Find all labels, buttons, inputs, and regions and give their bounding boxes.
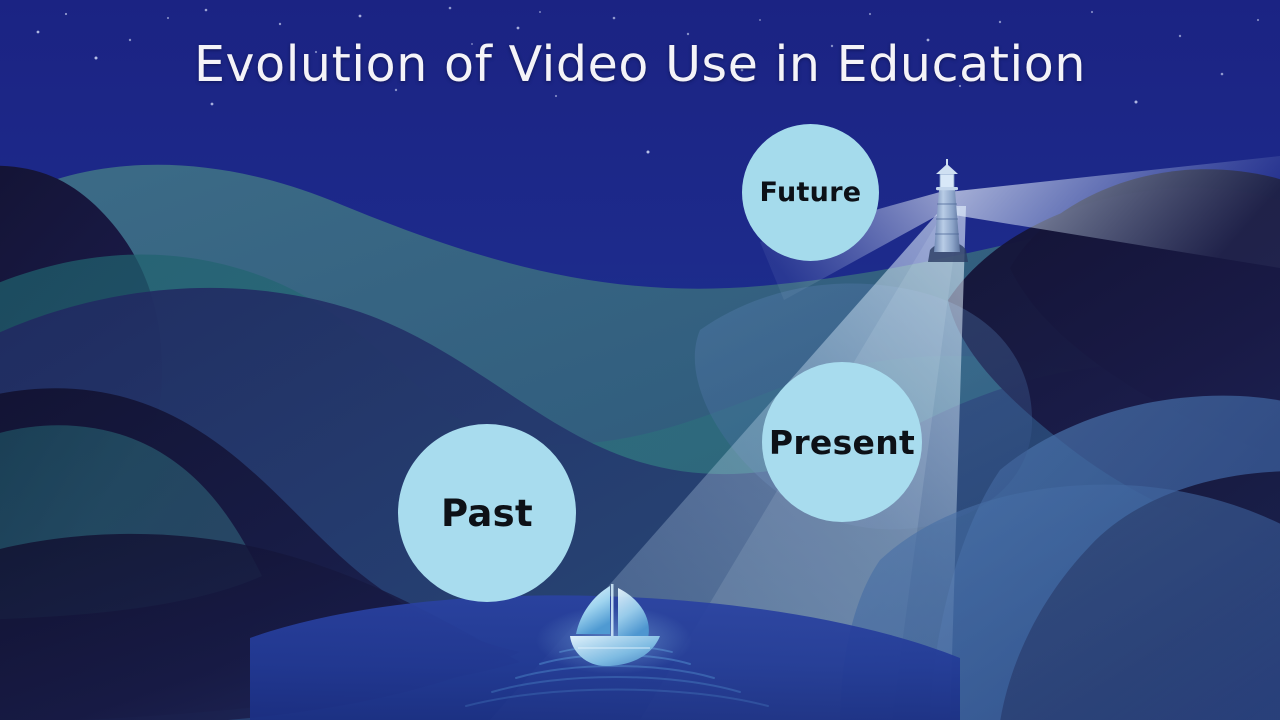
- node-past[interactable]: Past: [398, 424, 576, 602]
- node-present-label: Present: [769, 426, 915, 459]
- scene-illustration: [0, 0, 1280, 720]
- node-future[interactable]: Future: [742, 124, 879, 261]
- lighthouse-lamp: [940, 174, 954, 188]
- node-future-label: Future: [760, 179, 862, 206]
- node-present[interactable]: Present: [762, 362, 922, 522]
- node-past-label: Past: [441, 495, 533, 532]
- slide-canvas: Evolution of Video Use in Education Futu…: [0, 0, 1280, 720]
- page-title: Evolution of Video Use in Education: [0, 36, 1280, 93]
